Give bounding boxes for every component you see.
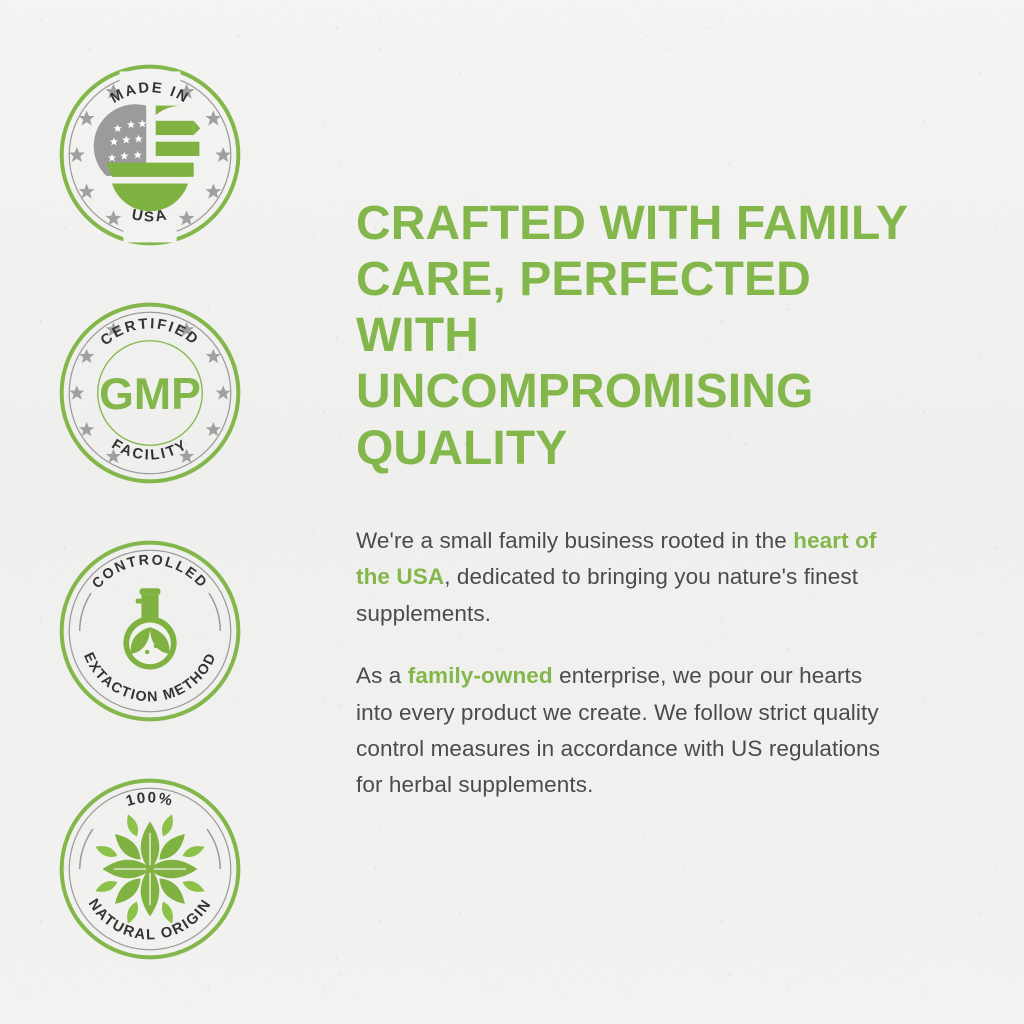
badge-2-bottom-text: FACILITY xyxy=(109,437,192,464)
trust-badges-column: MADE IN USA xyxy=(0,0,300,1024)
highlighted-phrase: family-owned xyxy=(408,663,553,688)
page-headline: CRAFTED WITH FAMILY CARE, PERFECTED WITH… xyxy=(356,196,914,477)
badge-natural-origin: 100% NATURAL ORIGIN xyxy=(55,774,245,964)
flask-leaf-seal-icon: CONTROLLED EXTACTION METHOD xyxy=(55,536,245,726)
body-text-run: We're a small family business rooted in … xyxy=(356,528,793,553)
badge-1-bottom-text: USA xyxy=(130,206,169,225)
leaf-rosette-emblem xyxy=(94,813,207,926)
badge-4-top-text: 100% xyxy=(124,789,175,810)
page-root: MADE IN USA xyxy=(0,0,1024,1024)
badge-made-in-usa: MADE IN USA xyxy=(55,60,245,250)
badge-gmp-certified-facility: GMP CERTIFIED FACILITY xyxy=(55,298,245,488)
body-text-run: As a xyxy=(356,663,408,688)
usa-flag-emblem xyxy=(94,104,201,211)
badge-2-center-text: GMP xyxy=(99,370,201,419)
badge-3-top-text: CONTROLLED xyxy=(89,552,211,592)
content-column: CRAFTED WITH FAMILY CARE, PERFECTED WITH… xyxy=(300,0,1024,1024)
leaf-rosette-seal-icon: 100% NATURAL ORIGIN xyxy=(55,774,245,964)
paragraph-intro: We're a small family business rooted in … xyxy=(356,523,886,632)
badge-controlled-extaction-method: CONTROLLED EXTACTION METHOD xyxy=(55,536,245,726)
paragraph-quality: As a family-owned enterprise, we pour ou… xyxy=(356,658,886,804)
gmp-seal-icon: GMP CERTIFIED FACILITY xyxy=(55,298,245,488)
made-in-usa-seal-icon: MADE IN USA xyxy=(55,60,245,250)
